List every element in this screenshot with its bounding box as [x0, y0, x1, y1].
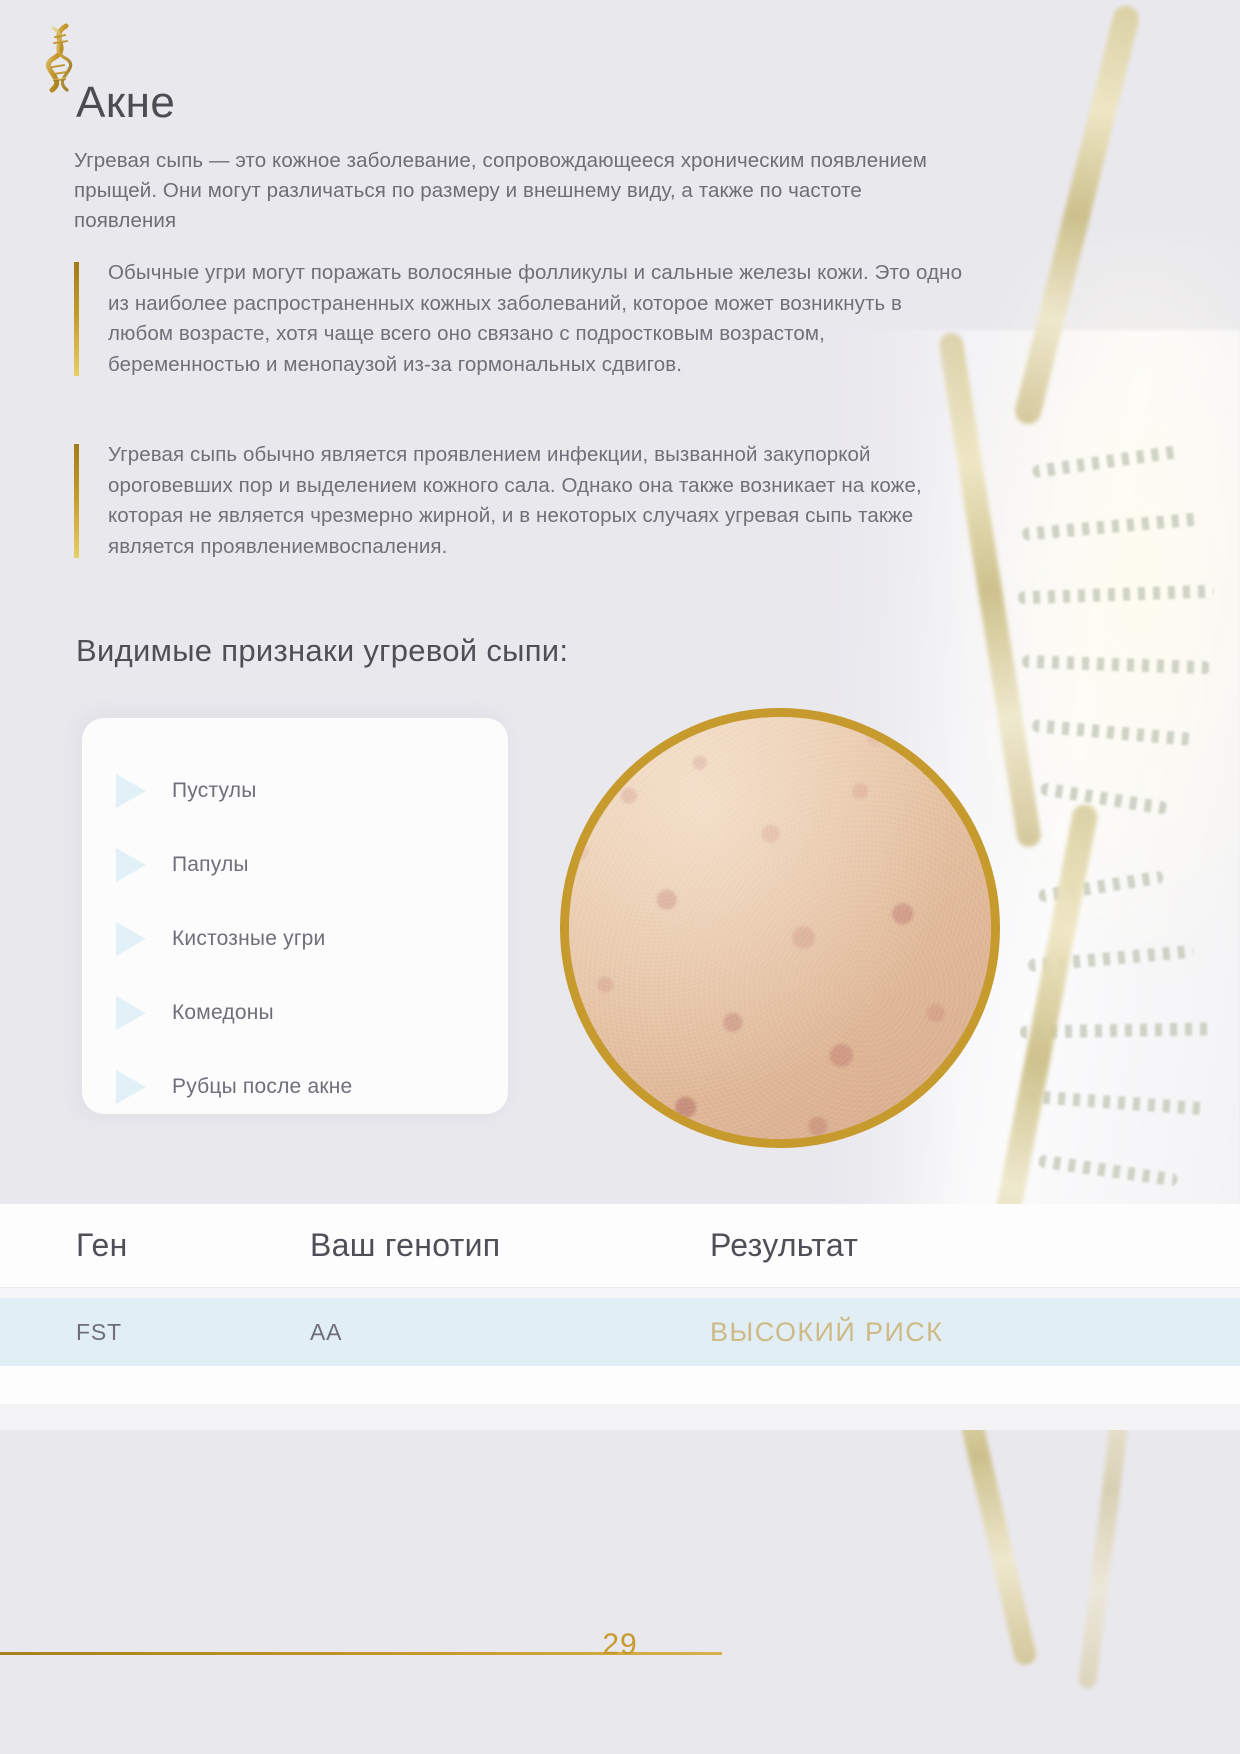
list-item-label: Рубцы после акне: [172, 1075, 352, 1099]
skin-highlight-overlay: [569, 717, 991, 1139]
table-divider: [0, 1288, 1240, 1298]
list-item-label: Папулы: [172, 853, 249, 877]
page-number: 29: [0, 1628, 1240, 1662]
table-header-row: Ген Ваш генотип Результат: [0, 1204, 1240, 1288]
triangle-right-icon: [116, 996, 146, 1030]
list-item[interactable]: Кистозные угри: [82, 902, 508, 976]
triangle-right-icon: [116, 774, 146, 808]
page-title: Акне: [76, 78, 175, 128]
list-item-label: Пустулы: [172, 779, 257, 803]
report-page: Акне Угревая сыпь — это кожное заболеван…: [0, 0, 1240, 1754]
list-item-label: Комедоны: [172, 1001, 274, 1025]
results-table: Ген Ваш генотип Результат FST AA ВЫСОКИЙ…: [0, 1204, 1240, 1430]
symptom-list-card: Пустулы Папулы Кистозные угри Комедоны Р…: [82, 718, 508, 1114]
list-item[interactable]: Пустулы: [82, 754, 508, 828]
highlight-block-1: Обычные угри могут поражать волосяные фо…: [74, 258, 964, 380]
skin-closeup-photo: [560, 708, 1000, 1148]
cell-gene: FST: [0, 1319, 310, 1346]
table-bottom-band-2: [0, 1404, 1240, 1430]
list-item[interactable]: Папулы: [82, 828, 508, 902]
cell-genotype: AA: [310, 1319, 710, 1346]
triangle-right-icon: [116, 1070, 146, 1104]
table-bottom-band: [0, 1366, 1240, 1404]
intro-paragraph: Угревая сыпь — это кожное заболевание, с…: [74, 146, 964, 236]
list-item[interactable]: Комедоны: [82, 976, 508, 1050]
triangle-right-icon: [116, 922, 146, 956]
column-header-gene: Ген: [0, 1227, 310, 1264]
list-item-label: Кистозные угри: [172, 927, 326, 951]
column-header-genotype: Ваш генотип: [310, 1227, 710, 1264]
list-item[interactable]: Рубцы после акне: [82, 1050, 508, 1124]
table-row[interactable]: FST AA ВЫСОКИЙ РИСК: [0, 1298, 1240, 1366]
highlight-block-2: Угревая сыпь обычно является проявлением…: [74, 440, 964, 562]
status-badge: ВЫСОКИЙ РИСК: [710, 1317, 1240, 1348]
column-header-result: Результат: [710, 1227, 1240, 1264]
symptoms-heading: Видимые признаки угревой сыпи:: [76, 633, 568, 669]
triangle-right-icon: [116, 848, 146, 882]
